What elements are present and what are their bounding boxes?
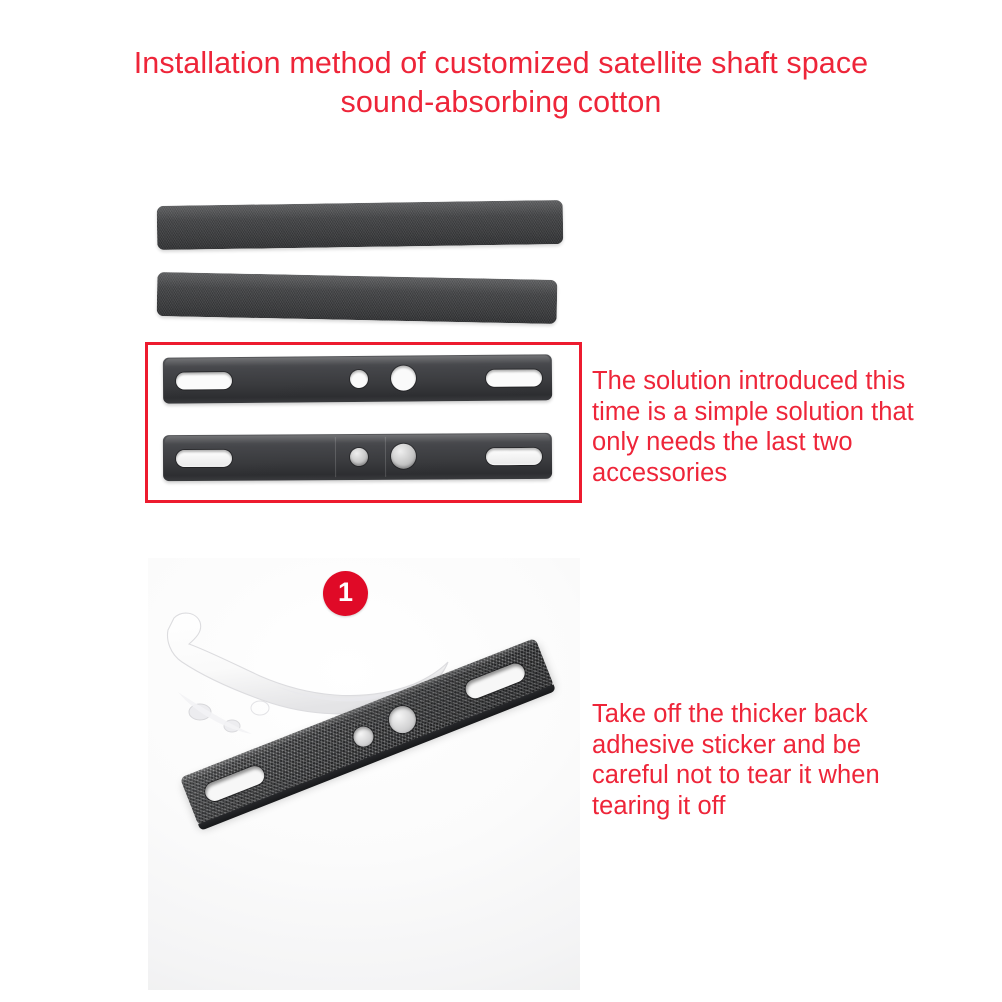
installation-photo-panel (148, 558, 580, 990)
slot-hole-left (176, 372, 232, 389)
foam-strip-thick-2 (157, 272, 558, 324)
page-title: Installation method of customized satell… (0, 44, 1002, 122)
round-hole-large (385, 702, 420, 737)
round-hole-large (391, 444, 416, 469)
callout-solution-line-2: time is a simple solution that (592, 397, 992, 428)
slot-hole-left (202, 763, 267, 803)
callout-solution-text: The solution introduced this time is a s… (592, 366, 992, 488)
callout-peel-line-2: adhesive sticker and be (592, 730, 996, 761)
foam-strip-thick-1 (157, 200, 564, 250)
step-number-label: 1 (338, 579, 353, 606)
slotted-bracket-strip-1 (163, 354, 552, 403)
callout-peel-line-1: Take off the thicker back (592, 699, 996, 730)
slot-hole-left (176, 450, 232, 467)
slot-hole-right (486, 369, 542, 386)
round-hole-small (350, 448, 368, 466)
page-title-line-1: Installation method of customized satell… (0, 44, 1002, 83)
slot-hole-right (486, 448, 542, 465)
callout-solution-line-3: only needs the last two (592, 427, 992, 458)
seam-line-left (335, 437, 336, 477)
page-title-line-2: sound-absorbing cotton (0, 83, 1002, 122)
round-hole-large (391, 365, 416, 390)
round-hole-small (350, 724, 376, 750)
step-number-badge: 1 (323, 571, 368, 616)
callout-solution-line-4: accessories (592, 458, 992, 489)
seam-line-right (385, 437, 386, 477)
slotted-bracket-strip-2 (163, 433, 552, 481)
callout-peel-text: Take off the thicker back adhesive stick… (592, 699, 996, 821)
callout-peel-line-3: careful not to tear it when (592, 760, 996, 791)
slot-hole-right (463, 661, 528, 701)
round-hole-small (350, 370, 368, 388)
callout-peel-line-4: tearing it off (592, 791, 996, 822)
callout-solution-line-1: The solution introduced this (592, 366, 992, 397)
